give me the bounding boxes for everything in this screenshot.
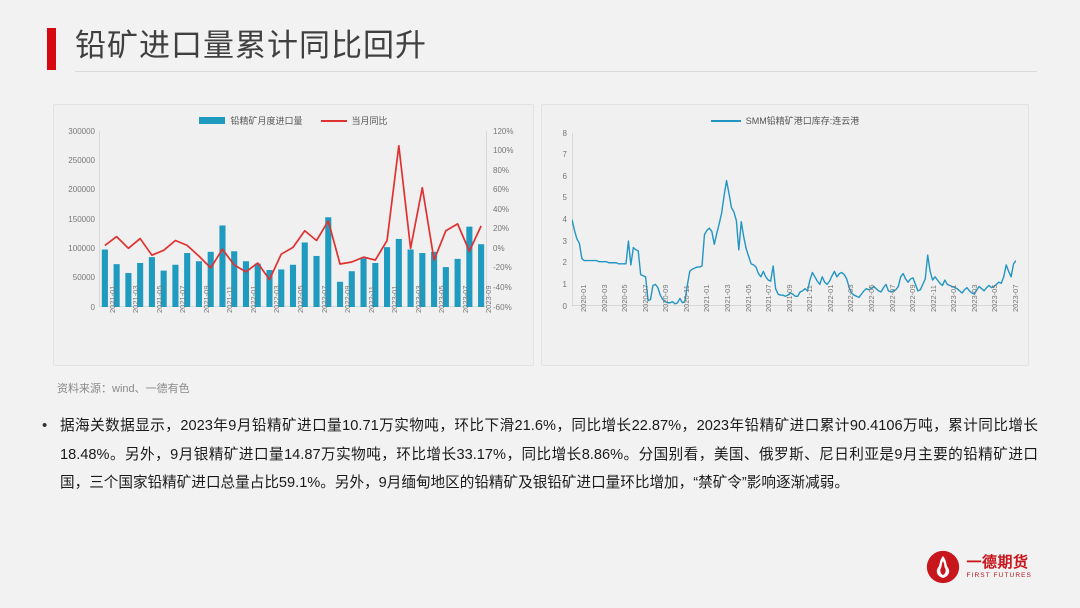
x-axis-tick-left-chart: 2022-11 xyxy=(367,286,376,313)
x-axis-tick-left-chart: 2022-01 xyxy=(249,285,258,313)
y-axis-tick-right-chart: 1 xyxy=(552,280,567,289)
x-axis-tick-right-chart: 2021-07 xyxy=(764,284,773,312)
x-axis-tick-right-chart: 2023-05 xyxy=(990,284,999,312)
x-axis-tick-right-chart: 2020-03 xyxy=(600,284,609,312)
x-axis-tick-left-chart: 2021-03 xyxy=(131,285,140,313)
y-axis-tick-right: 0% xyxy=(493,244,505,253)
y-axis-tick-left: 300000 xyxy=(57,127,95,136)
legend-label-bar: 铅精矿月度进口量 xyxy=(230,114,302,127)
y-axis-tick-right: 120% xyxy=(493,127,513,136)
x-axis-tick-left-chart: 2021-01 xyxy=(108,285,117,313)
x-axis-tick-left-chart: 2021-07 xyxy=(178,285,187,313)
y-axis-tick-right: 60% xyxy=(493,185,509,194)
x-axis-tick-right-chart: 2022-09 xyxy=(908,284,917,312)
y-axis-tick-right: -20% xyxy=(493,263,512,272)
bar xyxy=(360,258,366,307)
y-axis-tick-right: 80% xyxy=(493,166,509,175)
logo-name-cn: 一德期货 xyxy=(967,555,1032,570)
plot-area-left: 050000100000150000200000250000300000-60%… xyxy=(99,131,487,307)
x-axis-tick-right-chart: 2021-03 xyxy=(723,284,732,312)
y-axis-tick-right-chart: 4 xyxy=(552,215,567,224)
y-axis-tick-right-chart: 7 xyxy=(552,150,567,159)
y-axis-tick-left: 200000 xyxy=(57,185,95,194)
chart-panel-inventory: SMM铅精矿港口库存:连云港 0123456782020-012020-0320… xyxy=(541,104,1029,366)
x-axis-tick-left-chart: 2022-03 xyxy=(272,285,281,313)
x-axis-tick-left-chart: 2023-03 xyxy=(414,285,423,313)
title-accent-bar xyxy=(47,28,56,70)
x-axis-tick-right-chart: 2021-05 xyxy=(744,284,753,312)
x-axis-tick-right-chart: 2020-11 xyxy=(682,285,691,312)
x-axis-tick-right-chart: 2022-03 xyxy=(846,284,855,312)
bar xyxy=(102,250,108,307)
y-axis-tick-right: 100% xyxy=(493,146,513,155)
x-axis-tick-left-chart: 2023-05 xyxy=(437,285,446,313)
y-axis-tick-right-chart: 8 xyxy=(552,129,567,138)
legend-inventory-swatch-icon xyxy=(711,120,741,122)
legend-bar-swatch-icon xyxy=(199,117,225,124)
legend-item-bar: 铅精矿月度进口量 xyxy=(199,114,302,127)
legend-item-inventory: SMM铅精矿港口库存:连云港 xyxy=(711,114,860,127)
plot-area-right: 0123456782020-012020-032020-052020-07202… xyxy=(572,133,1016,306)
y-axis-tick-right: -60% xyxy=(493,303,512,312)
y-axis-tick-right: 40% xyxy=(493,205,509,214)
body-bullet: • 据海关数据显示，2023年9月铅精矿进口量10.71万实物吨，环比下滑21.… xyxy=(42,412,1038,498)
x-axis-tick-right-chart: 2023-01 xyxy=(949,284,958,312)
legend-label-inventory: SMM铅精矿港口库存:连云港 xyxy=(746,114,860,127)
x-axis-tick-left-chart: 2021-09 xyxy=(202,285,211,313)
y-axis-tick-left: 250000 xyxy=(57,156,95,165)
inventory-chart-svg xyxy=(572,133,1016,306)
logo-wordmark: 一德期货 FIRST FUTURES xyxy=(967,555,1032,580)
y-axis-tick-left: 150000 xyxy=(57,215,95,224)
x-axis-tick-left-chart: 2021-05 xyxy=(155,285,164,313)
legend-line-swatch-icon xyxy=(321,120,347,122)
x-axis-tick-right-chart: 2021-09 xyxy=(785,284,794,312)
y-axis-tick-right: 20% xyxy=(493,224,509,233)
x-axis-tick-right-chart: 2023-07 xyxy=(1011,284,1020,312)
y-axis-tick-left: 100000 xyxy=(57,244,95,253)
y-axis-tick-right-chart: 0 xyxy=(552,302,567,311)
x-axis-tick-right-chart: 2022-11 xyxy=(929,285,938,312)
x-axis-tick-right-chart: 2021-01 xyxy=(702,284,711,312)
x-axis-tick-right-chart: 2021-11 xyxy=(805,285,814,312)
chart-panel-imports: 铅精矿月度进口量 当月同比 05000010000015000020000025… xyxy=(53,104,534,366)
slide-header: 铅矿进口量累计同比回升 xyxy=(47,22,1037,77)
y-axis-tick-right: -40% xyxy=(493,283,512,292)
logo-name-en: FIRST FUTURES xyxy=(967,573,1032,580)
x-axis-tick-right-chart: 2020-07 xyxy=(641,284,650,312)
x-axis-tick-left-chart: 2023-01 xyxy=(390,285,399,313)
x-axis-tick-left-chart: 2021-11 xyxy=(225,286,234,313)
bar xyxy=(313,256,319,307)
y-axis-tick-left: 0 xyxy=(57,303,95,312)
company-logo: 一德期货 FIRST FUTURES xyxy=(926,550,1032,584)
x-axis-tick-left-chart: 2023-07 xyxy=(461,285,470,313)
y-axis-tick-right-chart: 2 xyxy=(552,258,567,267)
chart-legend-right: SMM铅精矿港口库存:连云港 xyxy=(542,114,1028,127)
x-axis-tick-right-chart: 2020-09 xyxy=(661,284,670,312)
y-axis-tick-left: 50000 xyxy=(57,273,95,282)
bar xyxy=(408,250,414,307)
x-axis-tick-right-chart: 2022-05 xyxy=(867,284,876,312)
x-axis-tick-left-chart: 2023-09 xyxy=(484,285,493,313)
x-axis-tick-right-chart: 2020-05 xyxy=(620,284,629,312)
bullet-marker: • xyxy=(42,412,52,498)
bar xyxy=(455,259,461,307)
x-axis-tick-left-chart: 2022-09 xyxy=(343,285,352,313)
slide-root: 铅矿进口量累计同比回升 铅精矿月度进口量 当月同比 05000010000015… xyxy=(0,0,1080,608)
legend-item-line: 当月同比 xyxy=(321,114,388,127)
flame-logo-icon xyxy=(926,550,960,584)
combo-chart-svg xyxy=(99,131,487,307)
y-axis-tick-right-chart: 5 xyxy=(552,193,567,202)
x-axis-tick-right-chart: 2022-07 xyxy=(888,284,897,312)
x-axis-tick-left-chart: 2022-07 xyxy=(320,285,329,313)
page-title: 铅矿进口量累计同比回升 xyxy=(75,22,427,70)
y-axis-tick-right-chart: 3 xyxy=(552,237,567,246)
legend-label-line: 当月同比 xyxy=(352,114,388,127)
title-divider xyxy=(75,71,1037,72)
x-axis-tick-right-chart: 2022-01 xyxy=(826,284,835,312)
y-axis-tick-right-chart: 6 xyxy=(552,172,567,181)
body-paragraph: 据海关数据显示，2023年9月铅精矿进口量10.71万实物吨，环比下滑21.6%… xyxy=(60,412,1038,498)
x-axis-tick-left-chart: 2022-05 xyxy=(296,285,305,313)
x-axis-tick-right-chart: 2023-03 xyxy=(970,284,979,312)
source-note: 资料来源：wind、一德有色 xyxy=(57,380,190,396)
chart-legend-left: 铅精矿月度进口量 当月同比 xyxy=(54,114,533,127)
x-axis-tick-right-chart: 2020-01 xyxy=(579,284,588,312)
